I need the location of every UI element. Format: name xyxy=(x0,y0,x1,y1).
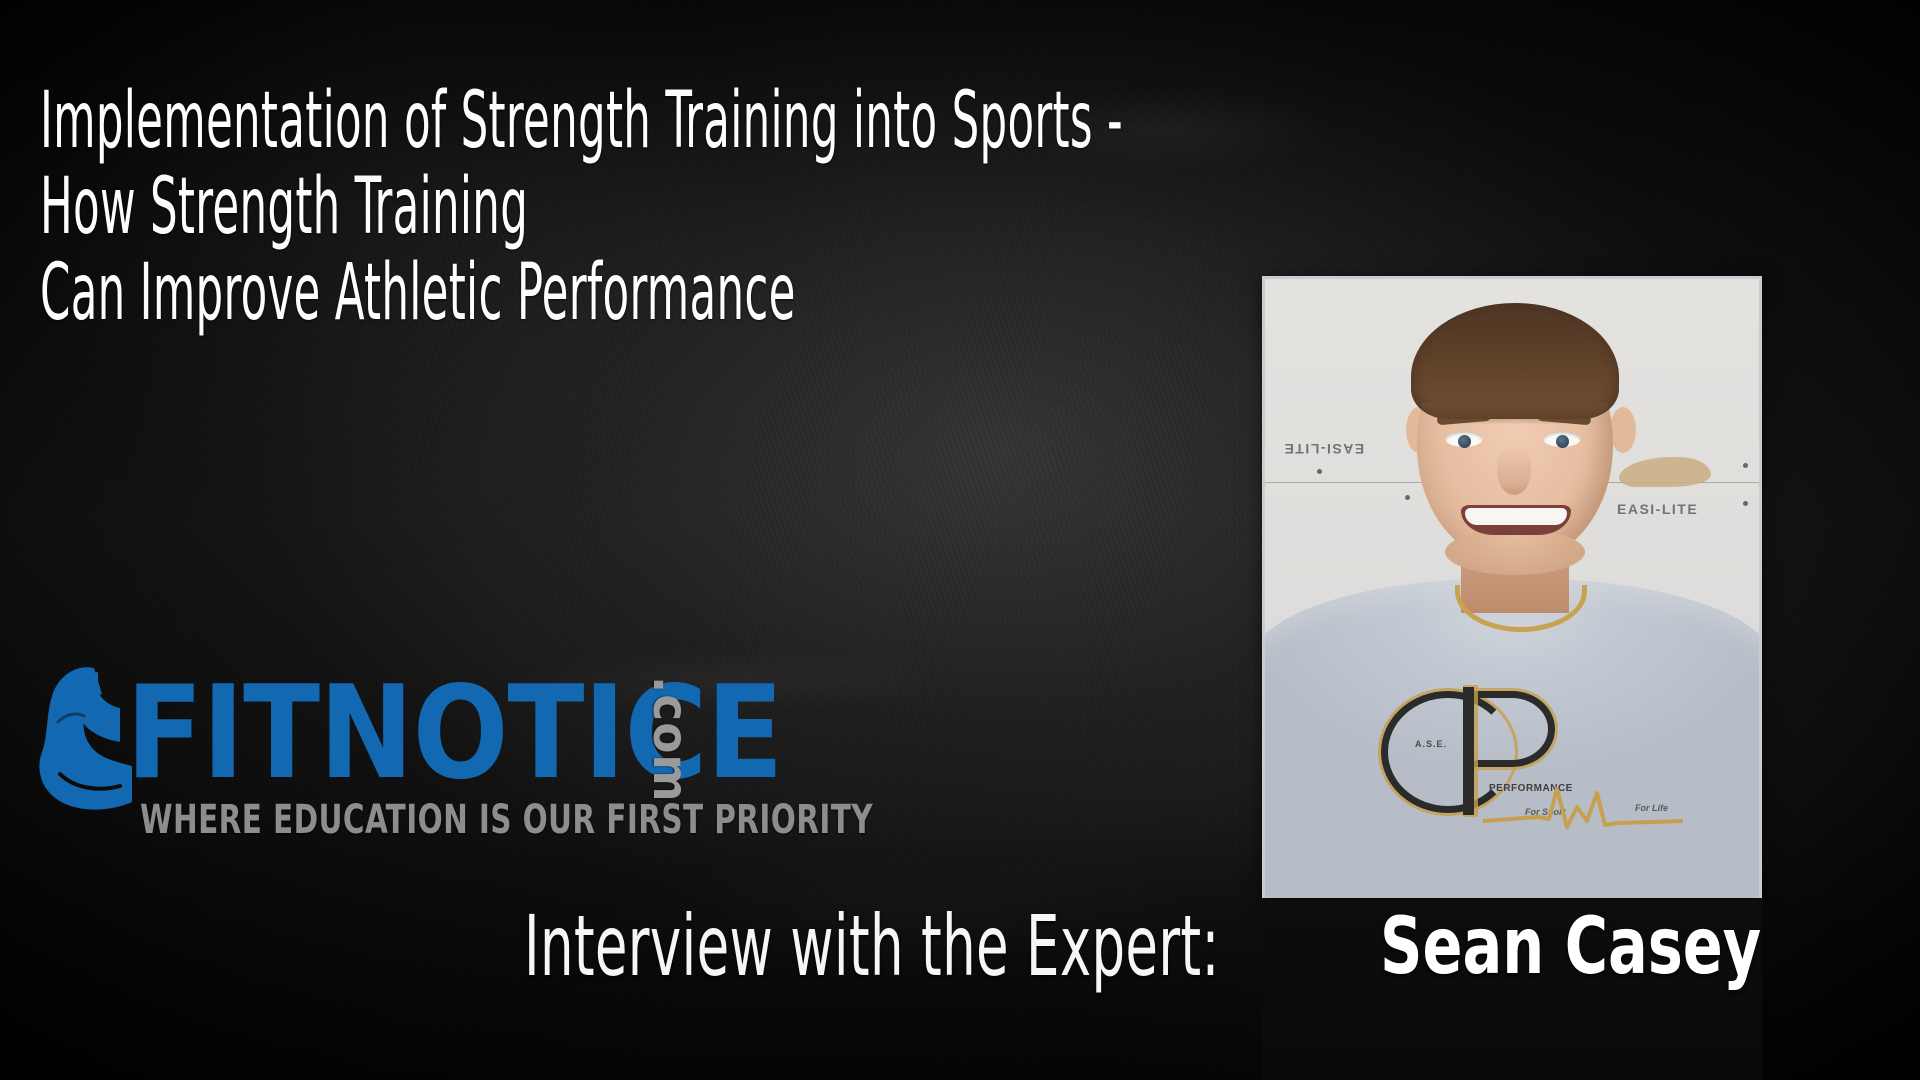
guest-portrait-photo: EASI-LITE EASI-LITE xyxy=(1262,276,1762,907)
pupil-left xyxy=(1458,435,1471,448)
presentation-slide: Implementation of Strength Training into… xyxy=(0,0,1920,1080)
backdrop-dot xyxy=(1743,463,1748,468)
backdrop-brand-text-lower: EASI-LITE xyxy=(1617,501,1698,517)
teeth xyxy=(1465,508,1567,525)
cp-logo-p-stem xyxy=(1463,687,1474,815)
pupil-right xyxy=(1556,435,1569,448)
chin xyxy=(1445,529,1585,575)
title-line-1: Implementation of Strength Training into… xyxy=(40,78,784,164)
backdrop-dot xyxy=(1743,501,1748,506)
portrait-image: EASI-LITE EASI-LITE xyxy=(1265,279,1759,904)
nose xyxy=(1497,447,1531,495)
interview-label: Interview with the Expert: xyxy=(524,900,1220,992)
cp-logo-sub-a: A.S.E. xyxy=(1415,739,1447,749)
title-line-2: How Strength Training xyxy=(40,164,784,250)
guest-name: Sean Casey xyxy=(1380,904,1761,990)
logo-tld-dotcom: .com xyxy=(646,676,694,803)
logo-row: FITNOTICE .com WHERE EDUCATION IS OUR FI… xyxy=(36,648,736,813)
logo-tagline: WHERE EDUCATION IS OUR FIRST PRIORITY xyxy=(140,800,873,840)
slide-title: Implementation of Strength Training into… xyxy=(40,78,1240,336)
cp-logo-p-bowl xyxy=(1469,691,1555,767)
backdrop-brand-text-upper: EASI-LITE xyxy=(1283,441,1364,457)
hair xyxy=(1411,303,1619,419)
backdrop-swoosh xyxy=(1619,457,1711,487)
smiling-mouth xyxy=(1461,505,1571,535)
shirt-cp-logo: A.S.E. PERFORMANCE For Sport For Life xyxy=(1377,685,1677,835)
ear-right xyxy=(1610,407,1636,453)
caption-row: Interview with the Expert: Sean Casey xyxy=(0,900,1920,1010)
fitnotice-logo: FITNOTICE .com WHERE EDUCATION IS OUR FI… xyxy=(36,648,736,878)
title-line-3: Can Improve Athletic Performance xyxy=(40,250,784,336)
backdrop-dot xyxy=(1317,469,1322,474)
backdrop-dot xyxy=(1405,495,1410,500)
ekg-waveform-icon xyxy=(1483,781,1683,833)
